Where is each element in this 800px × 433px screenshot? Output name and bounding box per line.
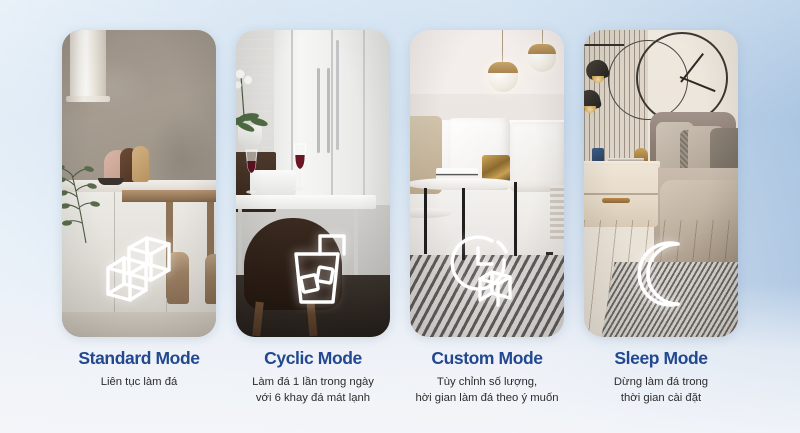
mode-description-line: với 6 khay đá mát lạnh [236,390,390,406]
mode-description-line: Tùy chỉnh số lượng, [410,374,564,390]
mode-caption-cyclic: Cyclic Mode Làm đá 1 lần trong ngày với … [236,348,390,428]
mode-panel-sleep[interactable] [584,30,738,337]
mode-caption-custom: Custom Mode Tùy chỉnh số lượng, hời gian… [410,348,564,428]
mode-description-line: Liên tục làm đá [62,374,216,390]
promo-banner: Standard Mode Liên tục làm đá Cyclic Mod… [0,0,800,433]
mode-description-cyclic: Làm đá 1 lần trong ngày với 6 khay đá má… [236,374,390,406]
mode-panel-custom[interactable] [410,30,564,337]
living-room-interior-photo [410,30,564,337]
mode-caption-row: Standard Mode Liên tục làm đá Cyclic Mod… [62,348,738,428]
mode-description-line: thời gian cài đặt [584,390,738,406]
mode-description-standard: Liên tục làm đá [62,374,216,390]
mode-caption-standard: Standard Mode Liên tục làm đá [62,348,216,428]
mode-description-line: Làm đá 1 lần trong ngày [236,374,390,390]
mode-title-standard: Standard Mode [62,348,216,368]
mode-description-sleep: Dừng làm đá trong thời gian cài đặt [584,374,738,406]
mode-description-line: Dừng làm đá trong [584,374,738,390]
mode-description-custom: Tùy chỉnh số lượng, hời gian làm đá theo… [410,374,564,406]
mode-panel-cyclic[interactable] [236,30,390,337]
mode-description-line: hời gian làm đá theo ý muốn [410,390,564,406]
mode-panel-standard[interactable] [62,30,216,337]
mode-title-cyclic: Cyclic Mode [236,348,390,368]
mode-caption-sleep: Sleep Mode Dừng làm đá trong thời gian c… [584,348,738,428]
mode-title-custom: Custom Mode [410,348,564,368]
bedroom-interior-photo [584,30,738,337]
mode-panel-row [62,30,738,337]
dining-room-interior-photo [236,30,390,337]
mode-title-sleep: Sleep Mode [584,348,738,368]
kitchen-interior-photo [62,30,216,337]
